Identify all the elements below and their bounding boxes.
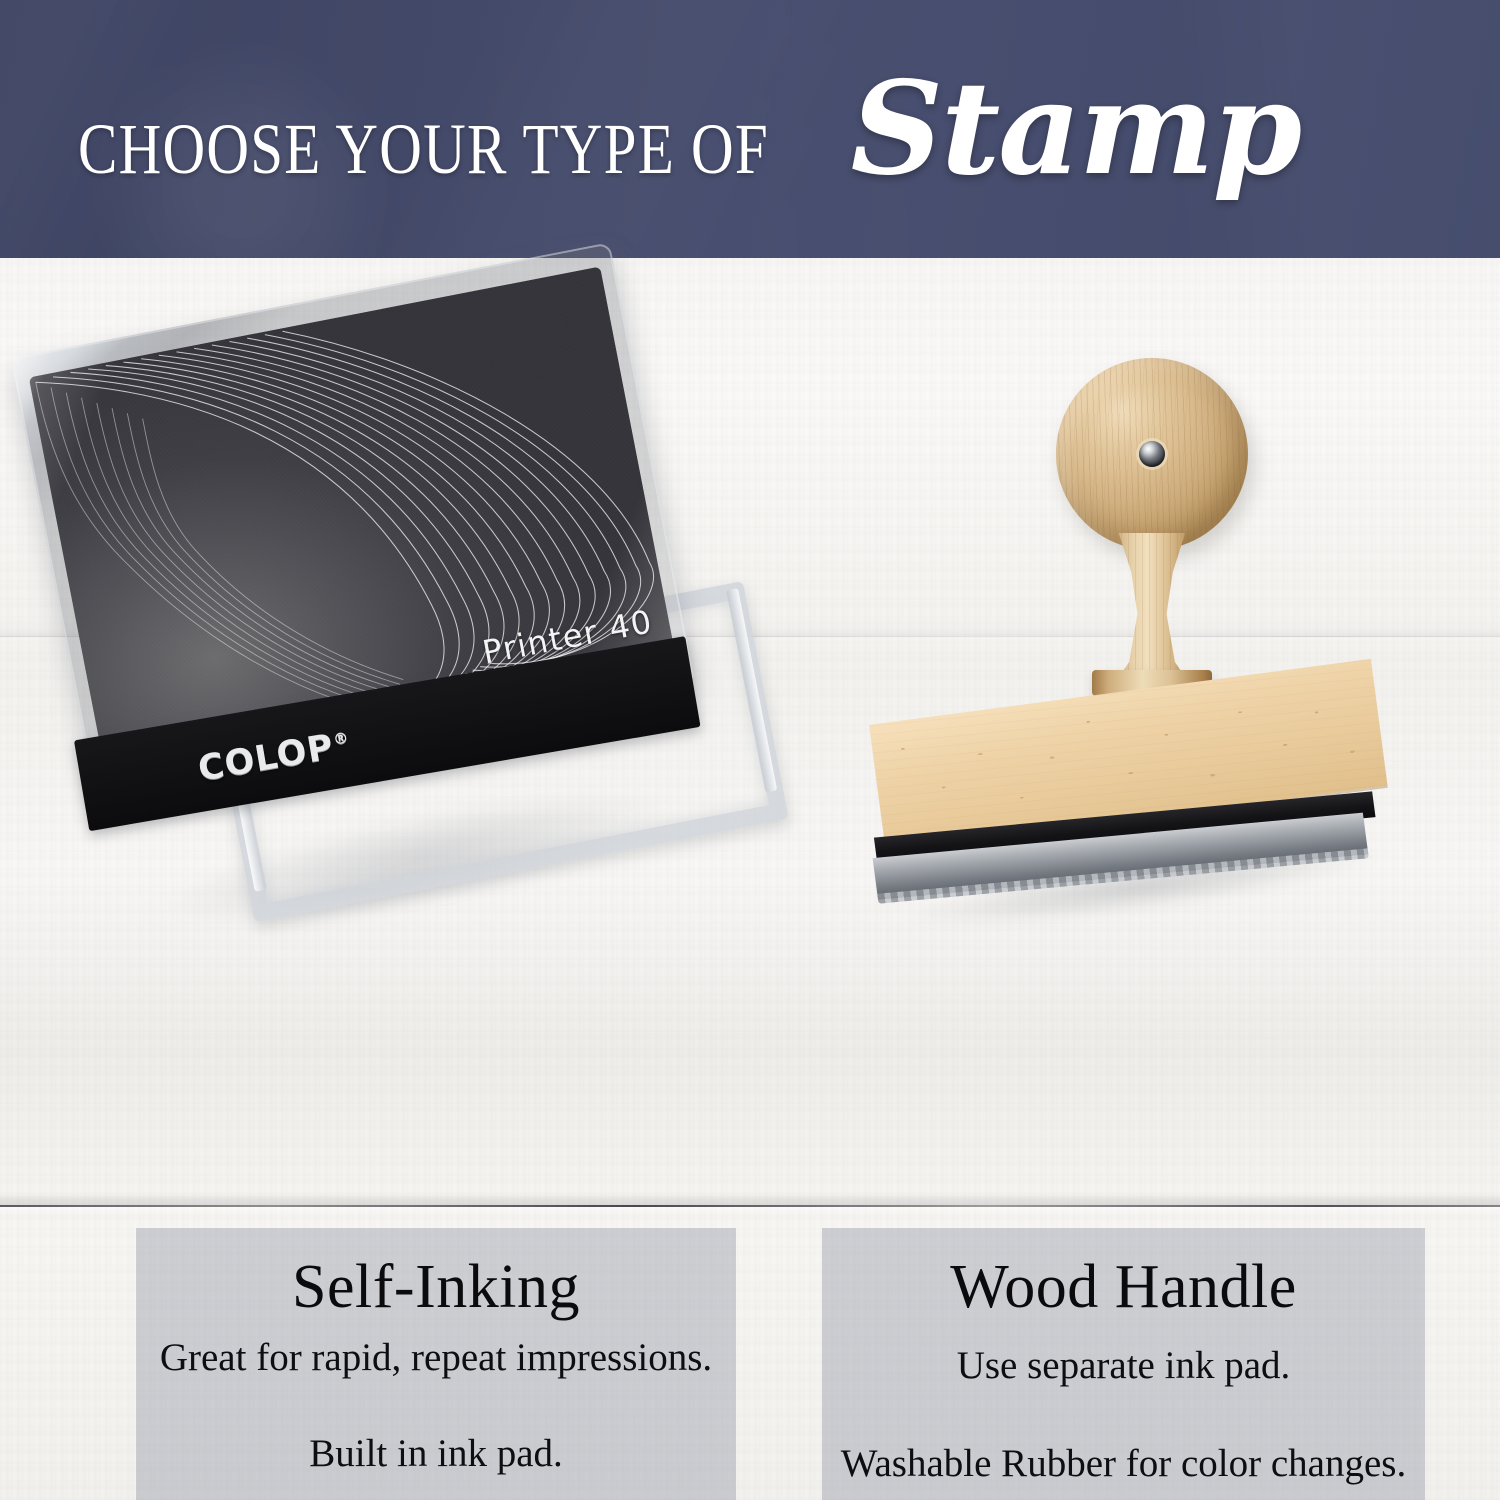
panel-line: Built in ink pad. (291, 1431, 581, 1477)
product-photo-area: Printer 40 COLOP ® (0, 258, 1500, 1500)
panel-title-wood-handle: Wood Handle (950, 1256, 1297, 1319)
panel-line: Washable Rubber for color changes. (823, 1441, 1424, 1487)
wood-handle-stamp-photo (860, 358, 1420, 978)
caption-panel-wood-handle: Wood Handle Use separate ink pad. Washab… (822, 1228, 1425, 1500)
page-title: CHOOSE YOUR TYPE OF Stamp (78, 65, 1300, 193)
metal-pin (1139, 441, 1165, 467)
self-inking-stamp-photo: Printer 40 COLOP ® (50, 273, 750, 1013)
colop-logo-text: COLOP (195, 727, 337, 789)
caption-panel-self-inking: Self-Inking Great for rapid, repeat impr… (136, 1228, 736, 1500)
colop-logo: COLOP ® (195, 724, 353, 789)
page-title-main: CHOOSE YOUR TYPE OF (78, 113, 769, 185)
panel-line: Use separate ink pad. (939, 1343, 1309, 1389)
infographic-page: CHOOSE YOUR TYPE OF Stamp (0, 0, 1500, 1500)
wood-neck (1100, 533, 1204, 683)
header-banner: CHOOSE YOUR TYPE OF Stamp (0, 0, 1500, 258)
wood-block-assembly (853, 638, 1420, 946)
panel-title-self-inking: Self-Inking (292, 1256, 580, 1319)
panel-line: Great for rapid, repeat impressions. (142, 1335, 730, 1381)
neck-wood-grain (1100, 533, 1204, 683)
page-title-script: Stamp (851, 65, 1300, 193)
registered-trademark-icon: ® (332, 728, 351, 748)
